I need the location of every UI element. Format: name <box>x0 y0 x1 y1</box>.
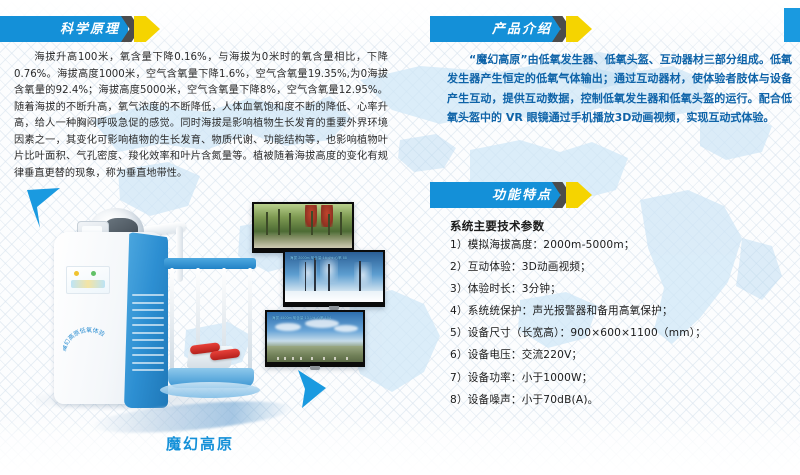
banner-label-science: 科学原理 <box>60 16 120 42</box>
frame-base-plate <box>160 382 260 398</box>
osd-overlay-text: 海拔 4500m 氧含量 13.1% 心率 104 <box>272 316 331 321</box>
list-item: 5）设备尺寸（长宽高）：900×600×1100（mm）； <box>450 328 795 339</box>
scene-winter: 海拔 2000m 氧含量 16.4% 心率 88 <box>285 252 383 302</box>
indicator-amber <box>74 271 79 276</box>
list-item: 7）设备功率：小于1000W； <box>450 373 795 384</box>
product-caption: 魔幻高原 <box>166 433 234 454</box>
scene-plateau: 海拔 4500m 氧含量 13.1% 心率 104 <box>267 312 363 362</box>
cabinet-arc-logo: 魔幻高原低氧体验 <box>63 324 115 358</box>
svg-text:魔幻高原低氧体验: 魔幻高原低氧体验 <box>63 326 106 352</box>
indicator-green <box>91 271 96 276</box>
list-item: 3）体验时长：3分钟； <box>450 284 795 295</box>
science-principle-paragraph: 海拔升高100米，氧含量下降0.16%，与海拔为0米时的氧含量相比，下降0.76… <box>14 50 388 182</box>
chevron-yellow-icon <box>566 182 592 208</box>
list-item: 4）系统统保护：声光报警器和备用高氧保护； <box>450 306 795 317</box>
banner-label-product: 产品介绍 <box>492 16 552 42</box>
list-item: 8）设备噪声：小于70dB(A)。 <box>450 395 795 406</box>
list-item: 2）互动体验：3D动画视频； <box>450 262 795 273</box>
list-item: 6）设备电压：交流220V； <box>450 350 795 361</box>
poster-page: 科学原理 产品介绍 功能特点 海拔升高100米，氧含量下降0.16%，与海拔为0… <box>0 0 800 475</box>
decorative-edge-tab-icon <box>780 8 800 42</box>
monitor-thumbnail-winter: 海拔 2000m 氧含量 16.4% 心率 88 <box>283 250 385 307</box>
banner-label-feature: 功能特点 <box>492 182 552 208</box>
feature-spec-block: 系统主要技术参数 1）模拟海拔高度：2000m-5000m； 2）互动体验：3D… <box>450 218 795 417</box>
osd-overlay-text: 海拔 2000m 氧含量 16.4% 心率 88 <box>290 256 347 261</box>
chevron-yellow-icon <box>134 16 160 42</box>
chevron-yellow-icon <box>566 16 592 42</box>
monitor-thumbnail-plateau: 海拔 4500m 氧含量 13.1% 心率 104 <box>265 310 365 367</box>
product-intro-paragraph: “魔幻高原”由低氧发生器、低氧头盔、互动器材三部分组成。低氧发生器产生恒定的低氧… <box>447 50 792 127</box>
machine-illustration: 魔幻高原低氧体验 <box>36 196 256 411</box>
monitor-thumbnail-forest <box>252 202 354 253</box>
decorative-arrow-icon <box>296 368 330 410</box>
cabinet-vent-slots <box>132 294 164 380</box>
cabinet-control-screen <box>66 266 110 294</box>
list-item: 1）模拟海拔高度：2000m-5000m； <box>450 240 795 251</box>
frame-post <box>248 268 252 372</box>
frame-top-bar <box>164 258 256 269</box>
section-banner-science: 科学原理 <box>0 16 172 42</box>
section-banner-feature: 功能特点 <box>430 182 610 208</box>
spec-list-title: 系统主要技术参数 <box>450 218 795 234</box>
frame-post <box>170 268 174 372</box>
screen-waveform <box>71 280 105 288</box>
spec-list: 1）模拟海拔高度：2000m-5000m； 2）互动体验：3D动画视频； 3）体… <box>450 240 795 405</box>
section-banner-product: 产品介绍 <box>430 16 610 42</box>
exercise-frame <box>164 258 256 404</box>
scene-forest <box>254 204 352 248</box>
